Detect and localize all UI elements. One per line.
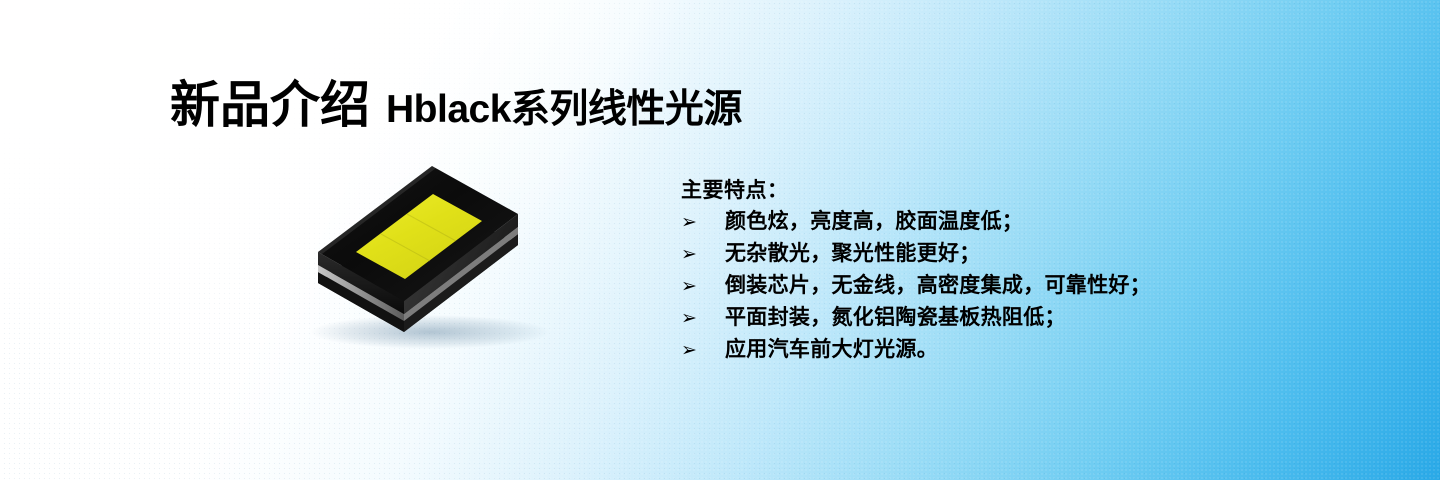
arrow-bullet-icon: ➢ [681,303,725,334]
list-item: ➢ 无杂散光，聚光性能更好； [681,238,1151,270]
arrow-bullet-icon: ➢ [681,335,725,366]
list-item-label: 倒装芯片，无金线，高密度集成，可靠性好； [725,270,1151,301]
page-title-chinese: 新品介绍 [170,80,370,130]
feature-list: 主要特点： ➢ 颜色炫，亮度高，胶面温度低； ➢ 无杂散光，聚光性能更好； ➢ … [681,176,1151,366]
list-item: ➢ 倒装芯片，无金线，高密度集成，可靠性好； [681,270,1151,302]
arrow-bullet-icon: ➢ [681,239,725,270]
list-item-label: 平面封装，氮化铝陶瓷基板热阻低； [725,302,1066,333]
page-title-product: Hblack系列线性光源 [386,90,742,129]
list-item: ➢ 应用汽车前大灯光源。 [681,334,1151,366]
arrow-bullet-icon: ➢ [681,207,725,238]
arrow-bullet-icon: ➢ [681,271,725,302]
list-item-label: 应用汽车前大灯光源。 [725,334,938,365]
list-item: ➢ 平面封装，氮化铝陶瓷基板热阻低； [681,302,1151,334]
list-item-label: 颜色炫，亮度高，胶面温度低； [725,206,1023,237]
slide-canvas: 新品介绍 Hblack系列线性光源 [0,0,1440,480]
page-title: 新品介绍 Hblack系列线性光源 [170,80,742,130]
list-item-label: 无杂散光，聚光性能更好； [725,238,981,269]
led-package-photo [270,160,600,360]
feature-list-heading: 主要特点： [681,176,1151,206]
list-item: ➢ 颜色炫，亮度高，胶面温度低； [681,206,1151,238]
led-shadow [310,315,550,349]
